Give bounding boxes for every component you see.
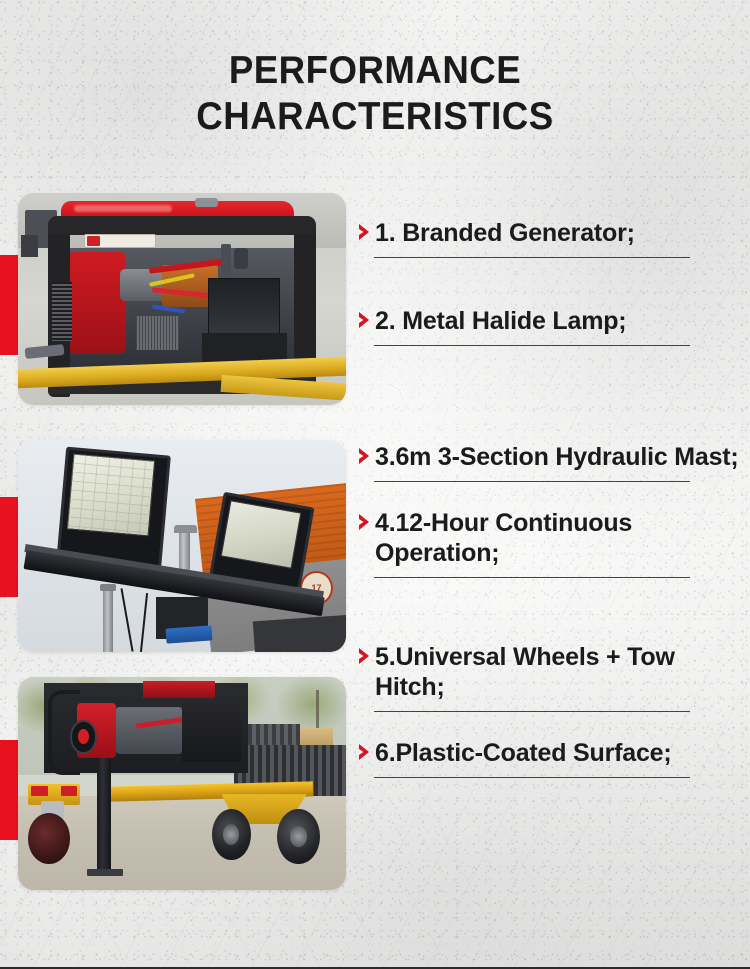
page-title-line-1: PERFORMANCE (23, 48, 728, 94)
page-title: PERFORMANCE CHARACTERISTICS (0, 48, 750, 140)
feature-label-6: 6.Plastic-Coated Surface; (375, 738, 672, 768)
feature-label-2: 2. Metal Halide Lamp; (375, 306, 626, 336)
feature-item-4: 4.12-Hour Continuous Operation; (358, 508, 744, 578)
red-accent-bar-2 (0, 497, 18, 597)
feature-divider-6 (374, 777, 690, 778)
feature-item-5: 5.Universal Wheels + Tow Hitch; (358, 642, 744, 712)
page-title-line-2: CHARACTERISTICS (23, 94, 728, 140)
feature-item-2: 2. Metal Halide Lamp; (358, 306, 744, 346)
photo-light-mast: 17 (18, 440, 346, 652)
photo-trailer-chassis (18, 677, 346, 890)
feature-item-1: 1. Branded Generator; (358, 218, 744, 258)
chevron-right-icon (358, 447, 374, 465)
feature-list: 1. Branded Generator; 2. Metal Halide La… (358, 218, 744, 778)
feature-label-4: 4.12-Hour Continuous Operation; (375, 508, 744, 568)
chevron-right-icon (358, 513, 374, 531)
red-accent-bar-3 (0, 740, 18, 840)
performance-characteristics-poster: PERFORMANCE CHARACTERISTICS (0, 0, 750, 969)
feature-label-3: 3.6m 3-Section Hydraulic Mast; (375, 442, 739, 472)
feature-item-3: 3.6m 3-Section Hydraulic Mast; (358, 442, 744, 482)
feature-divider-2 (374, 345, 690, 346)
red-accent-bar-1 (0, 255, 18, 355)
feature-divider-3 (374, 481, 690, 482)
feature-item-6: 6.Plastic-Coated Surface; (358, 738, 744, 778)
feature-divider-4 (374, 577, 690, 578)
chevron-right-icon (358, 311, 374, 329)
feature-label-1: 1. Branded Generator; (375, 218, 635, 248)
chevron-right-icon (358, 647, 374, 665)
photo-generator (18, 193, 346, 405)
feature-divider-1 (374, 257, 690, 258)
chevron-right-icon (358, 223, 374, 241)
feature-divider-5 (374, 711, 690, 712)
chevron-right-icon (358, 743, 374, 761)
feature-label-5: 5.Universal Wheels + Tow Hitch; (375, 642, 744, 702)
